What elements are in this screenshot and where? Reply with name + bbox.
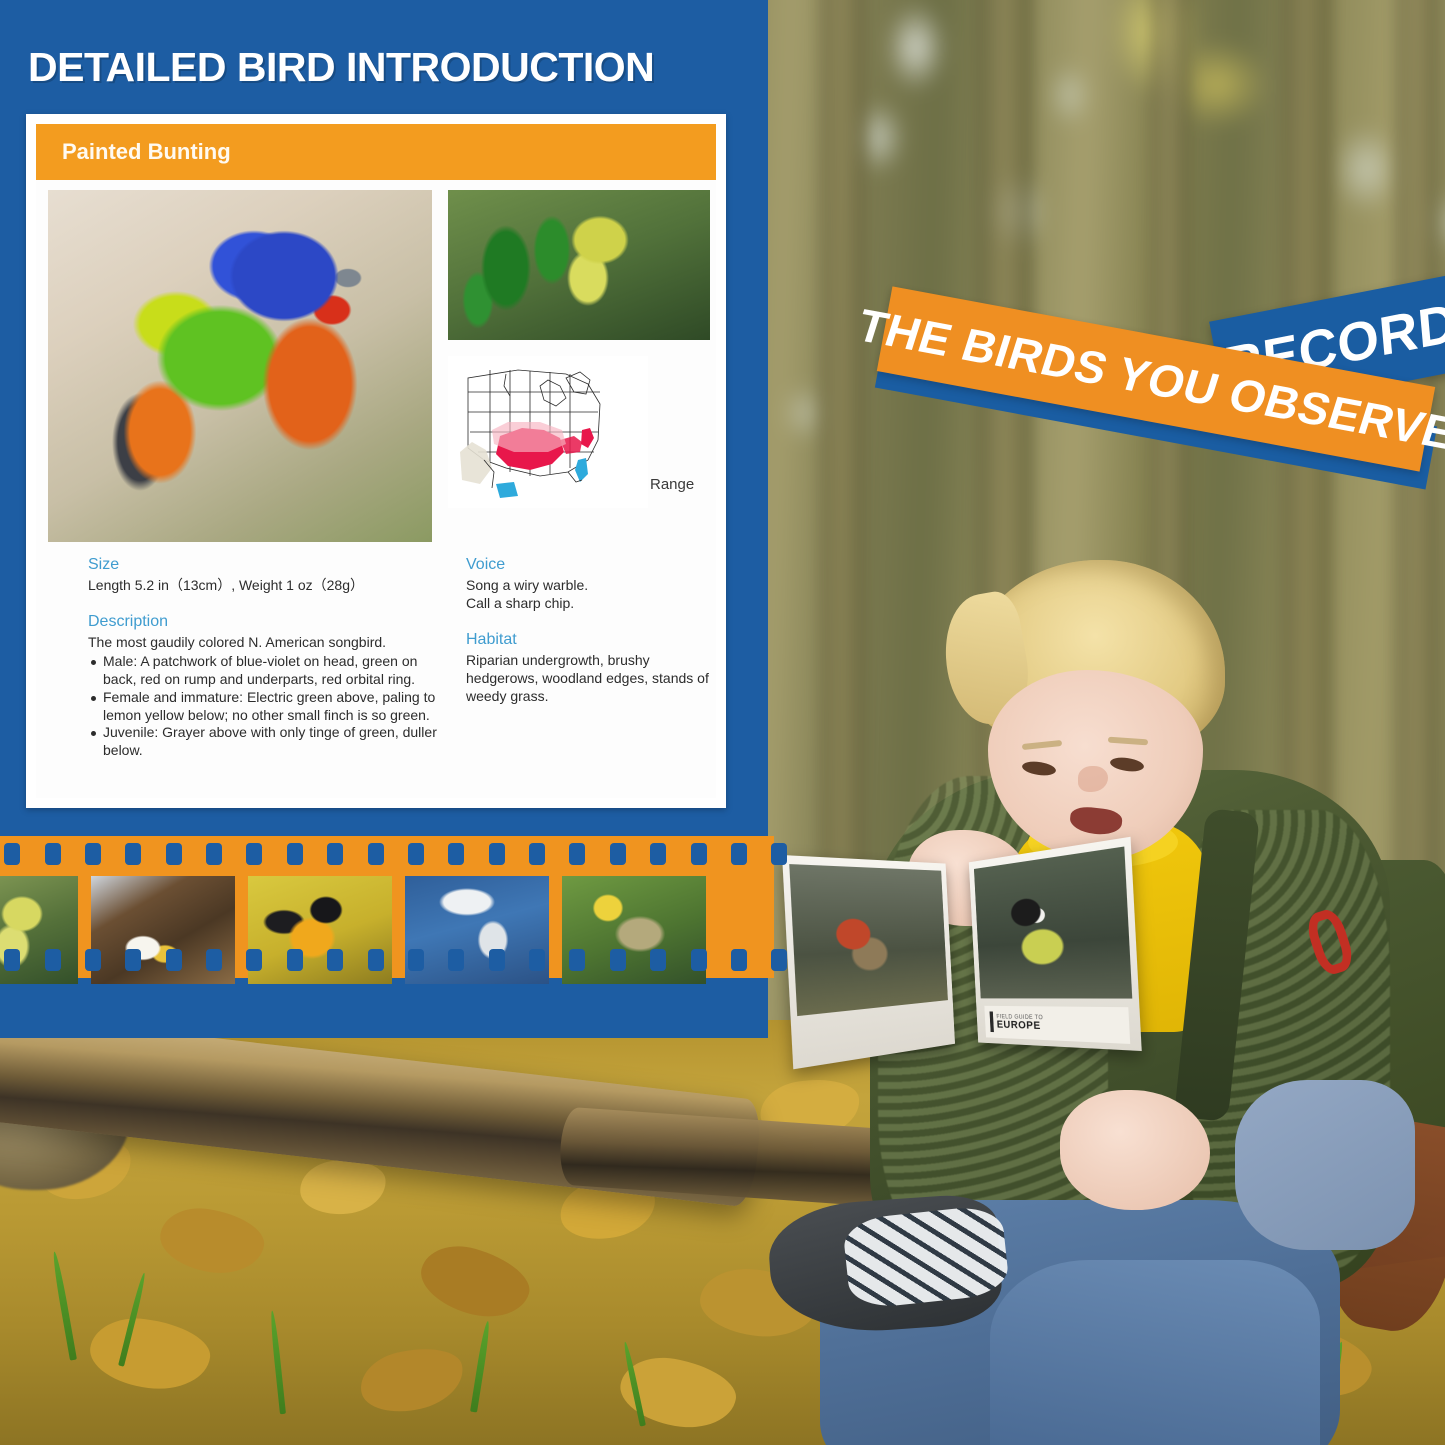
range-map-svg [448, 356, 648, 508]
book-robin-photo [789, 864, 948, 1016]
habitat-text: Riparian undergrowth, brushy hedgerows, … [466, 652, 716, 706]
book-imprint-bar [990, 1011, 994, 1032]
child-hand-right [1060, 1090, 1210, 1210]
description-bullet: Male: A patchwork of blue-violet on head… [88, 653, 450, 689]
species-card-header: Painted Bunting [36, 124, 716, 180]
species-name: Painted Bunting [62, 139, 231, 165]
species-details: Size Length 5.2 in（13cm）, Weight 1 oz（28… [36, 556, 716, 798]
description-bullet: Female and immature: Electric green abov… [88, 689, 450, 725]
page-title: DETAILED BIRD INTRODUCTION [28, 44, 654, 91]
voice-block: Voice Song a wiry warble. Call a sharp c… [466, 556, 716, 613]
female-painted-bunting-photo [448, 190, 710, 340]
size-text: Length 5.2 in（13cm）, Weight 1 oz（28g） [88, 577, 450, 595]
info-panel: DETAILED BIRD INTRODUCTION Painted Bunti… [0, 0, 768, 1038]
description-bullet: Juvenile: Grayer above with only tinge o… [88, 724, 450, 760]
habitat-heading: Habitat [466, 631, 716, 649]
book-page-left [782, 855, 955, 1069]
child-sleeve [1235, 1080, 1415, 1250]
description-intro: The most gaudily colored N. American son… [88, 634, 450, 652]
habitat-block: Habitat Riparian undergrowth, brushy hed… [466, 631, 716, 706]
description-bullet-list: Male: A patchwork of blue-violet on head… [88, 653, 450, 760]
child-jeans-knee [990, 1260, 1320, 1445]
field-guide-book: FIELD GUIDE TO EUROPE [785, 846, 1140, 1064]
voice-line-1: Song a wiry warble. [466, 577, 716, 595]
range-map [448, 356, 648, 508]
filmstrip-perforations-top [0, 841, 774, 867]
details-column-left: Size Length 5.2 in（13cm）, Weight 1 oz（28… [88, 556, 450, 778]
details-column-right: Voice Song a wiry warble. Call a sharp c… [466, 556, 716, 724]
voice-heading: Voice [466, 556, 716, 574]
description-heading: Description [88, 613, 450, 631]
poster-canvas: FIELD GUIDE TO EUROPE RECORD THE BIRDS Y… [0, 0, 1445, 1445]
size-block: Size Length 5.2 in（13cm）, Weight 1 oz（28… [88, 556, 450, 595]
book-imprint-large: EUROPE [997, 1020, 1044, 1032]
description-block: Description The most gaudily colored N. … [88, 613, 450, 760]
book-great-tit-photo [974, 847, 1132, 999]
size-heading: Size [88, 556, 450, 574]
range-map-label: Range [650, 476, 694, 493]
filmstrip [0, 836, 774, 978]
filmstrip-perforations-bottom [0, 947, 774, 973]
book-imprint: FIELD GUIDE TO EUROPE [984, 1006, 1130, 1044]
male-painted-bunting-photo [48, 190, 432, 542]
book-page-right: FIELD GUIDE TO EUROPE [969, 837, 1142, 1051]
species-media: Range [36, 180, 716, 548]
species-card: Painted Bunting [26, 114, 726, 808]
voice-line-2: Call a sharp chip. [466, 595, 716, 613]
